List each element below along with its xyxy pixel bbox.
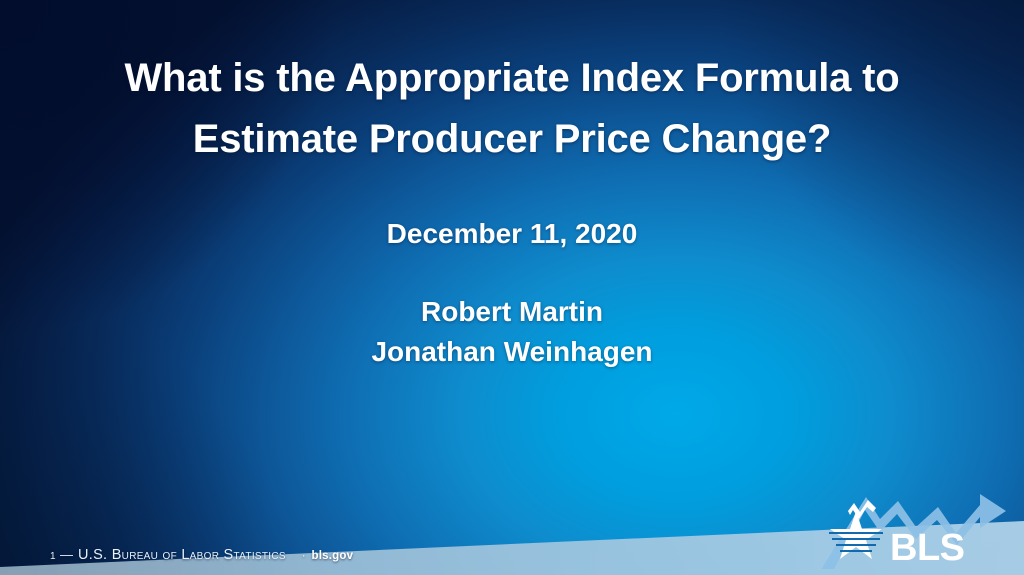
presentation-date: December 11, 2020 (0, 218, 1024, 250)
footer-dash: — (60, 547, 73, 562)
page-title: What is the Appropriate Index Formula to… (0, 48, 1024, 170)
author-name-2: Jonathan Weinhagen (0, 332, 1024, 373)
slide-content: What is the Appropriate Index Formula to… (0, 0, 1024, 373)
presentation-slide: What is the Appropriate Index Formula to… (0, 0, 1024, 575)
agency-name: U.S. Bureau of Labor Statistics (78, 547, 286, 563)
website-link[interactable]: bls.gov (312, 550, 354, 562)
bls-logo[interactable]: BLS (820, 481, 1016, 573)
title-line-1: What is the Appropriate Index Formula to (110, 48, 914, 109)
author-name-1: Robert Martin (0, 292, 1024, 333)
author-list: Robert Martin Jonathan Weinhagen (0, 292, 1024, 374)
footer-separator: · (302, 550, 306, 562)
title-line-2: Estimate Producer Price Change? (110, 109, 914, 170)
slide-footer: 1 — U.S. Bureau of Labor Statistics · bl… (50, 547, 353, 563)
slide-page-number: 1 (50, 551, 56, 562)
bls-wordmark: BLS (890, 527, 965, 569)
